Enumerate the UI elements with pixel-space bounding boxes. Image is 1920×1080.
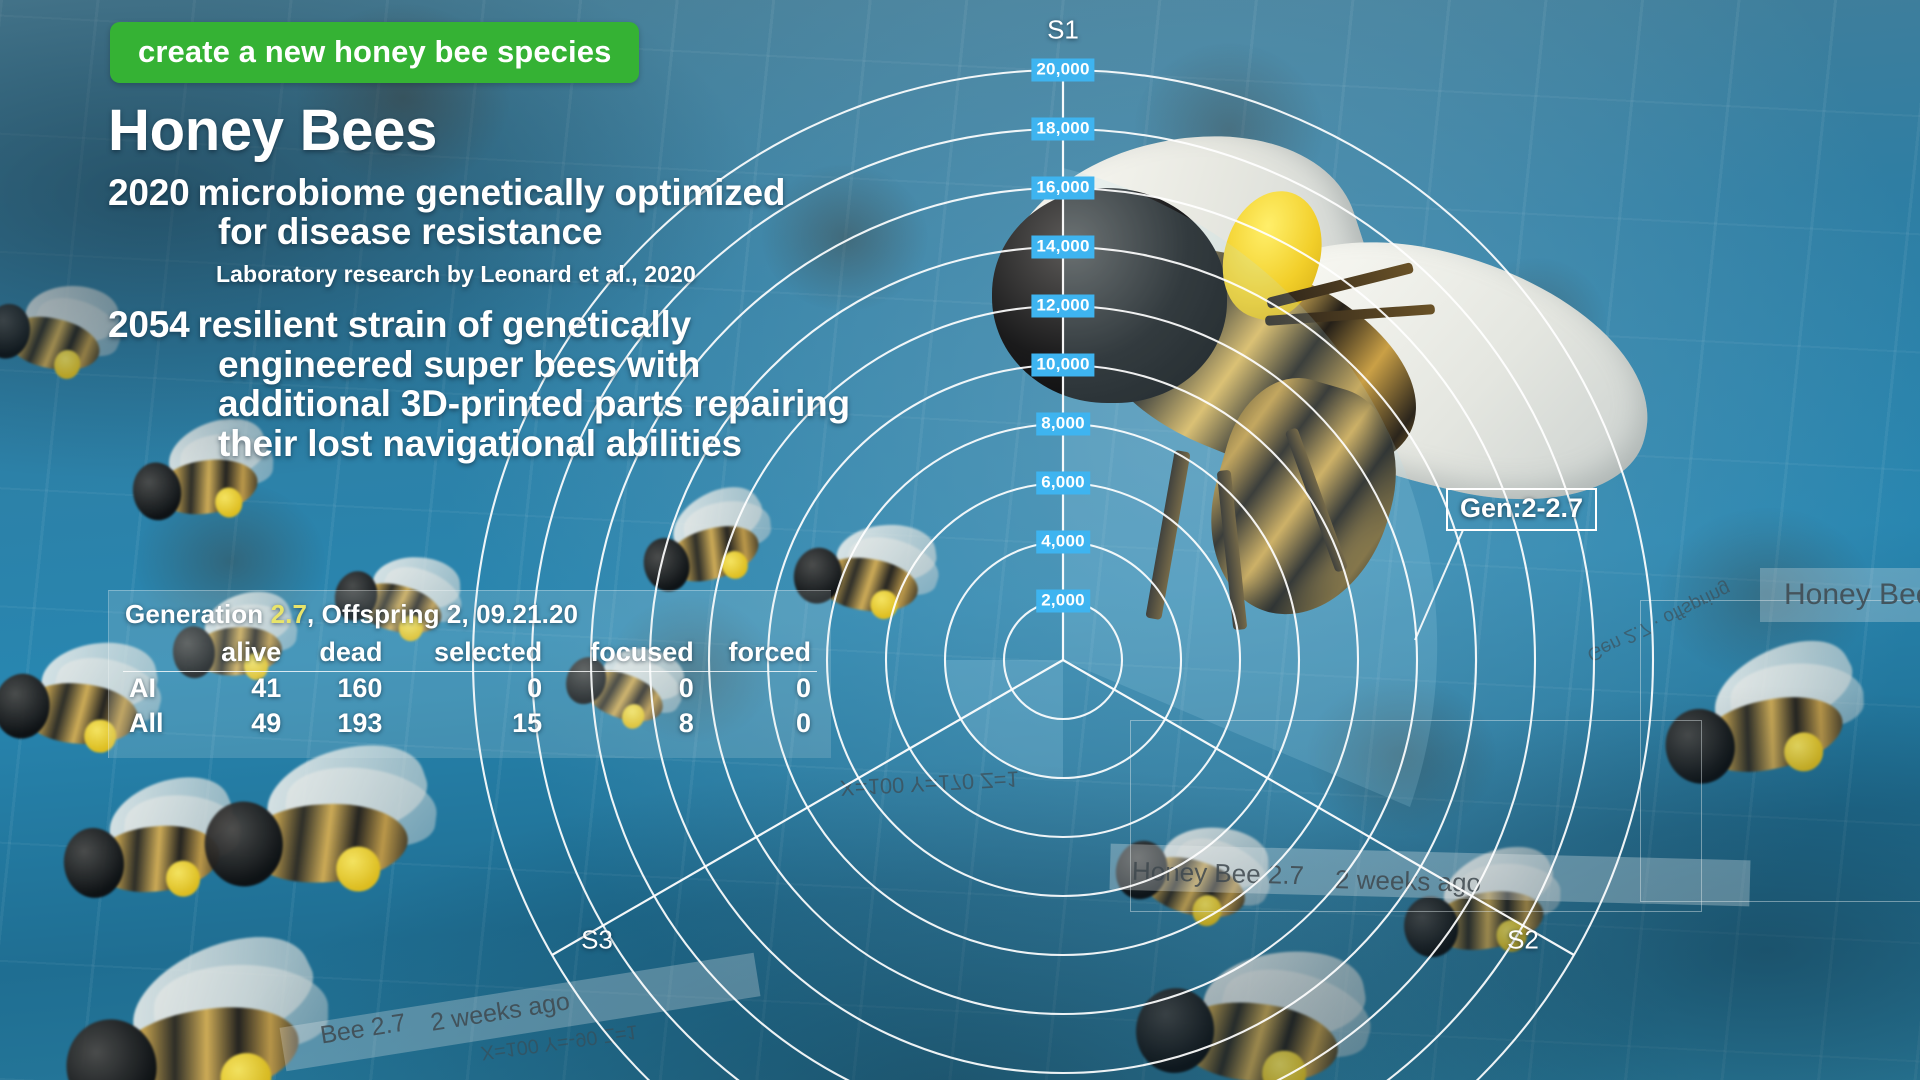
radar-tick-6000: 6,000 — [1036, 472, 1090, 495]
caption-generation-value: 2.7 — [271, 599, 307, 629]
cell-selected: 15 — [388, 707, 548, 742]
entry-line-2: for disease resistance — [108, 212, 1118, 252]
page-title: Honey Bees — [108, 100, 1118, 163]
column-header-selected: selected — [388, 636, 548, 672]
entry-line-1: microbiome genetically optimized — [198, 172, 786, 213]
table-header-row: alive dead selected focused forced — [123, 636, 817, 672]
cell-forced: 0 — [700, 707, 817, 742]
entry-line-1: resilient strain of genetically — [198, 304, 691, 345]
prompt-text: create a new honey bee species — [138, 36, 611, 67]
timeline-entry-2054: 2054resilient strain of genetically engi… — [108, 305, 1118, 463]
cell-alive: 41 — [195, 672, 287, 708]
background-label-right: Honey Bee — [1784, 578, 1920, 612]
column-header-forced: forced — [700, 636, 817, 672]
row-label: AI — [123, 672, 195, 708]
stats-table: alive dead selected focused forced AI 41… — [123, 636, 817, 742]
headline-block: Honey Bees 2020microbiome genetically op… — [108, 100, 1118, 463]
app-canvas: Honey Bee Honey Bee 2.7 2 weeks ago Bee … — [0, 0, 1920, 1080]
background-label-center-name: Honey Bee 2.7 — [1132, 856, 1305, 891]
radar-axis-label-s1: S1 — [1047, 15, 1079, 46]
column-header-focused: focused — [548, 636, 700, 672]
radar-axis-label-s2: S2 — [1507, 925, 1539, 956]
stats-panel: Generation 2.7, Offspring 2, 09.21.20 al… — [108, 590, 831, 758]
background-label-center-time: 2 weeks ago — [1335, 864, 1482, 899]
radar-axis-label-s3: S3 — [581, 925, 613, 956]
radar-tick-20000: 20,000 — [1031, 59, 1094, 82]
radar-tick-4000: 4,000 — [1036, 531, 1090, 554]
entry-year: 2020 — [108, 172, 190, 213]
cell-alive: 49 — [195, 707, 287, 742]
cell-dead: 193 — [287, 707, 388, 742]
column-header-dead: dead — [287, 636, 388, 672]
cell-focused: 8 — [548, 707, 700, 742]
cell-dead: 160 — [287, 672, 388, 708]
entry-line-3: additional 3D-printed parts repairing — [108, 384, 1118, 424]
hero-bee-illustration — [1010, 150, 1760, 620]
table-row: All 49 193 15 8 0 — [123, 707, 817, 742]
row-label: All — [123, 707, 195, 742]
cell-focused: 0 — [548, 672, 700, 708]
research-subnote: Laboratory research by Leonard et al., 2… — [108, 262, 1118, 287]
radar-series-callout: Gen:2-2.7 — [1446, 488, 1597, 531]
table-row: AI 41 160 0 0 0 — [123, 672, 817, 708]
caption-suffix: , Offspring 2, 09.21.20 — [307, 599, 578, 629]
entry-year: 2054 — [108, 304, 190, 345]
cell-selected: 0 — [388, 672, 548, 708]
entry-line-4: their lost navigational abilities — [108, 424, 1118, 464]
radar-tick-2000: 2,000 — [1036, 590, 1090, 613]
caption-prefix: Generation — [125, 599, 271, 629]
stats-table-body: AI 41 160 0 0 0 All 49 193 15 8 0 — [123, 672, 817, 743]
stats-table-head: alive dead selected focused forced — [123, 636, 817, 672]
column-header-blank — [123, 636, 195, 672]
timeline-entry-2020: 2020microbiome genetically optimized for… — [108, 173, 1118, 252]
column-header-alive: alive — [195, 636, 287, 672]
stats-caption: Generation 2.7, Offspring 2, 09.21.20 — [125, 599, 817, 630]
cell-forced: 0 — [700, 672, 817, 708]
prompt-badge[interactable]: create a new honey bee species — [110, 22, 639, 83]
entry-line-2: engineered super bees with — [108, 345, 1118, 385]
